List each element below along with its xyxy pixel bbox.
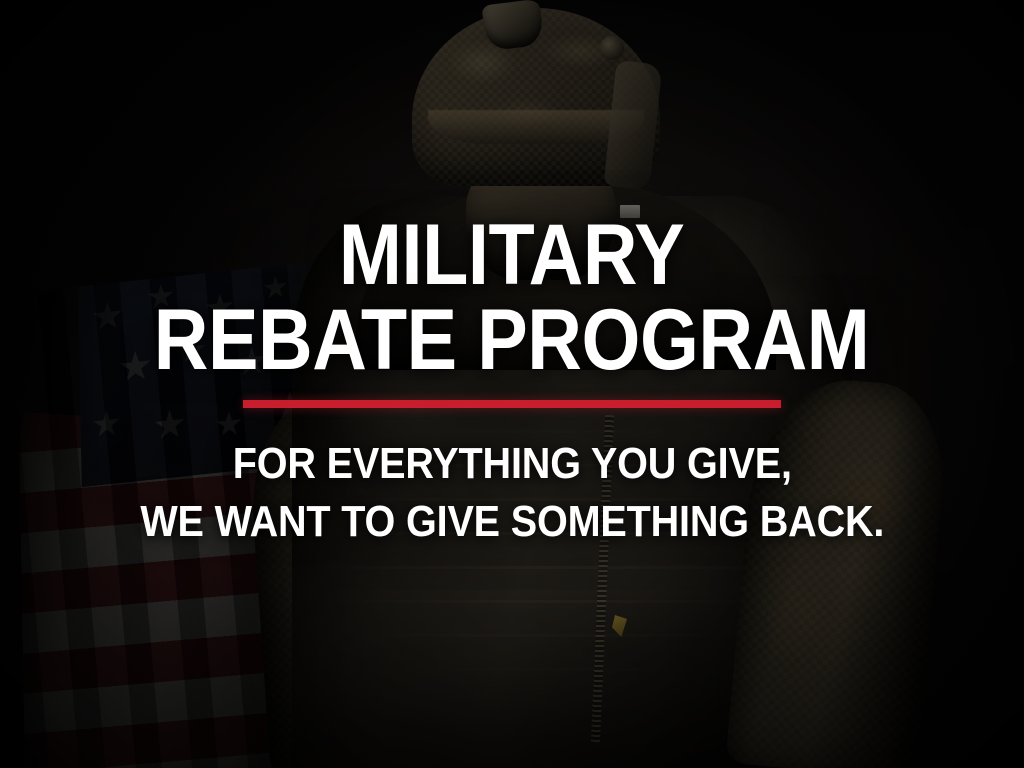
text-overlay: MILITARY REBATE PROGRAM FOR EVERYTHING Y…: [0, 0, 1024, 768]
subtitle-line-2: WE WANT TO GIVE SOMETHING BACK.: [140, 493, 884, 551]
divider-wrap: [0, 400, 1024, 408]
military-rebate-banner: MILITARY REBATE PROGRAM FOR EVERYTHING Y…: [0, 0, 1024, 768]
page-title: MILITARY REBATE PROGRAM: [154, 213, 870, 383]
subtitle: FOR EVERYTHING YOU GIVE, WE WANT TO GIVE…: [140, 435, 884, 551]
red-divider-rule: [243, 400, 781, 408]
headline-line-1: MILITARY: [154, 213, 870, 298]
subtitle-line-1: FOR EVERYTHING YOU GIVE,: [140, 435, 884, 493]
headline-line-2: REBATE PROGRAM: [154, 298, 870, 383]
